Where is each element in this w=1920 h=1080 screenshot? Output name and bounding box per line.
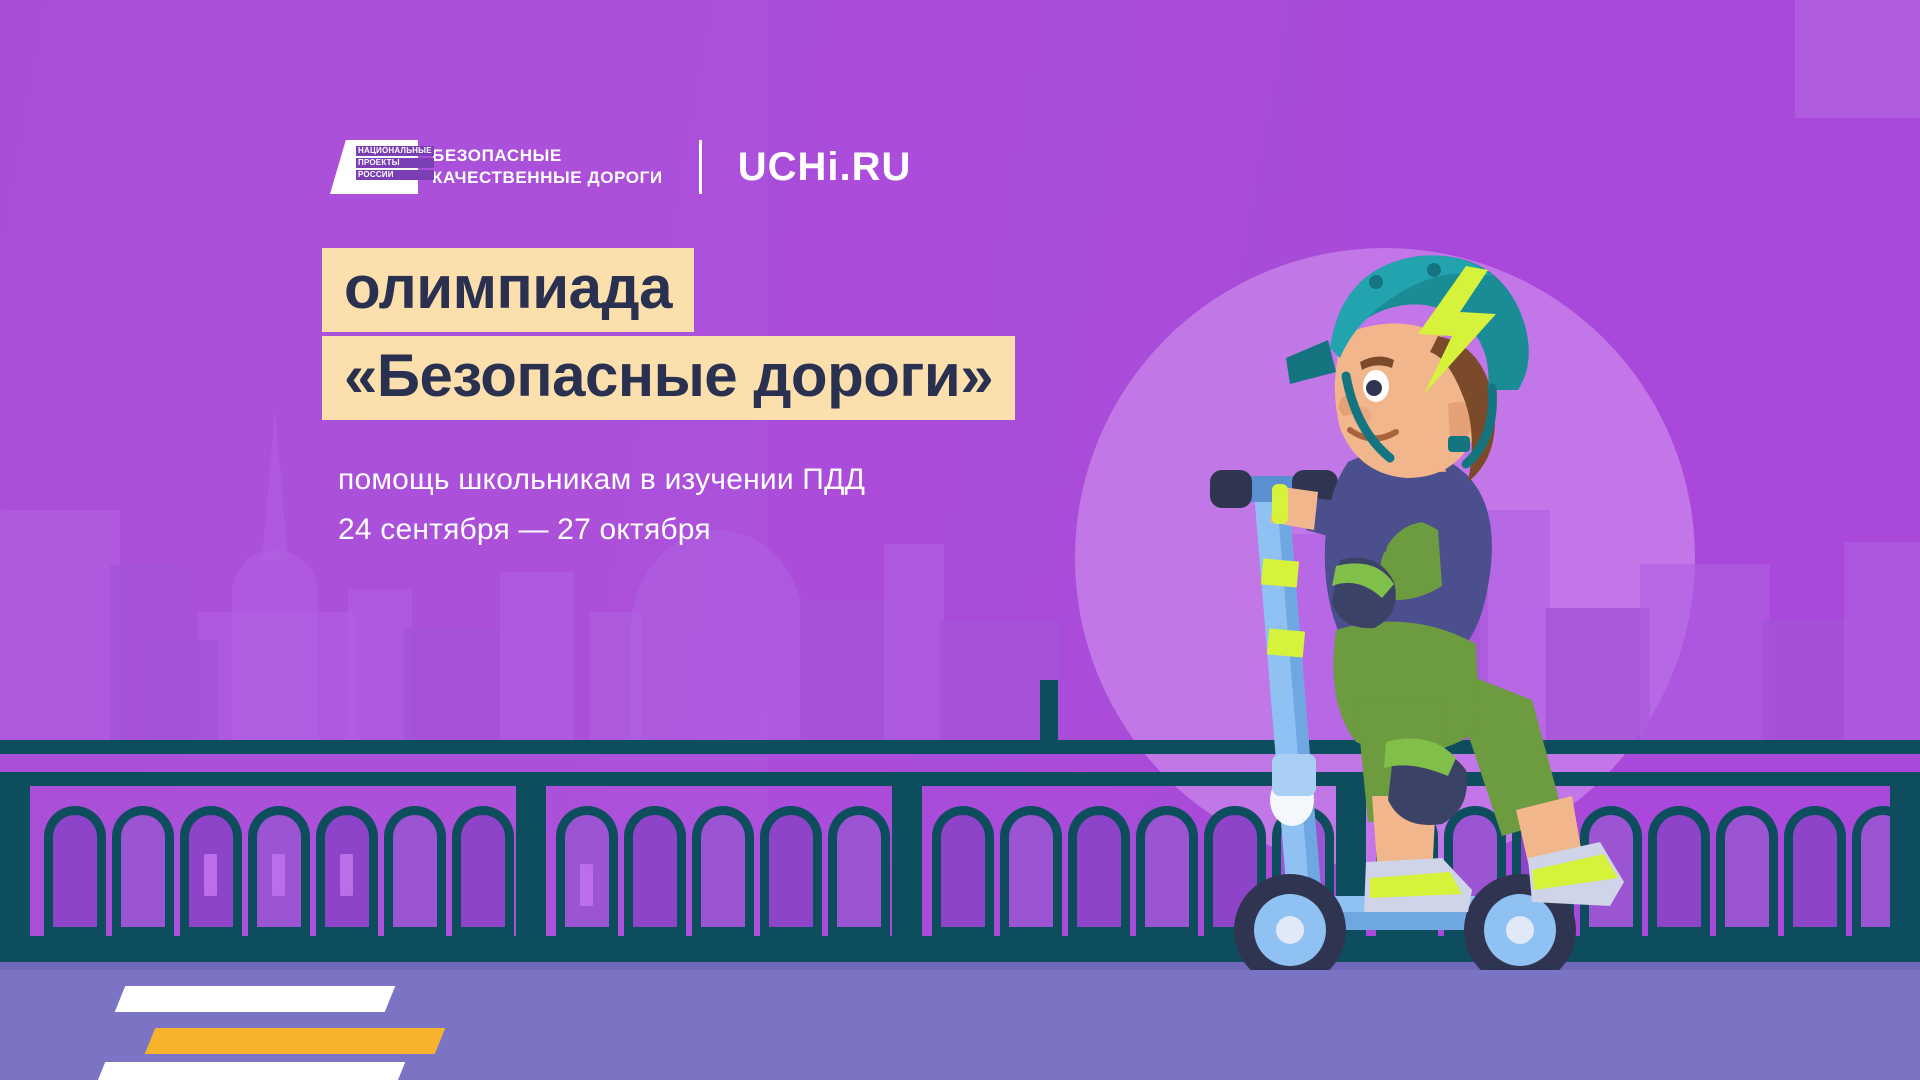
- scooter-rider-illustration: [1180, 230, 1720, 970]
- subtitle-block: помощь школьникам в изучении ПДД 24 сент…: [338, 455, 865, 555]
- road-surface: [0, 970, 1920, 1080]
- headline-line-1: олимпиада: [322, 248, 694, 332]
- np-line-1: НАЦИОНАЛЬНЫЕ: [356, 146, 434, 156]
- program-name: БЕЗОПАСНЫЕ КАЧЕСТВЕННЫЕ ДОРОГИ: [432, 145, 663, 189]
- header-logo-row: НАЦИОНАЛЬНЫЕ ПРОЕКТЫ РОССИИ БЕЗОПАСНЫЕ К…: [330, 140, 911, 194]
- np-line-2: ПРОЕКТЫ: [356, 158, 434, 168]
- subtitle-line-2: 24 сентября — 27 октября: [338, 505, 865, 555]
- program-name-line-1: БЕЗОПАСНЫЕ: [432, 145, 663, 167]
- logo-divider: [699, 140, 702, 194]
- background-corner-accent: [1795, 0, 1920, 118]
- headline-block: олимпиада «Безопасные дороги»: [322, 248, 1015, 420]
- headline-line-2: «Безопасные дороги»: [322, 336, 1015, 420]
- subtitle-line-1: помощь школьникам в изучении ПДД: [338, 455, 865, 505]
- uchiru-brand-logo: UCHi.RU: [738, 147, 912, 187]
- promo-banner: НАЦИОНАЛЬНЫЕ ПРОЕКТЫ РОССИИ БЕЗОПАСНЫЕ К…: [0, 0, 1920, 1080]
- program-name-line-2: КАЧЕСТВЕННЫЕ ДОРОГИ: [432, 167, 663, 189]
- np-line-3: РОССИИ: [356, 170, 434, 180]
- national-projects-logo: НАЦИОНАЛЬНЫЕ ПРОЕКТЫ РОССИИ: [330, 140, 418, 194]
